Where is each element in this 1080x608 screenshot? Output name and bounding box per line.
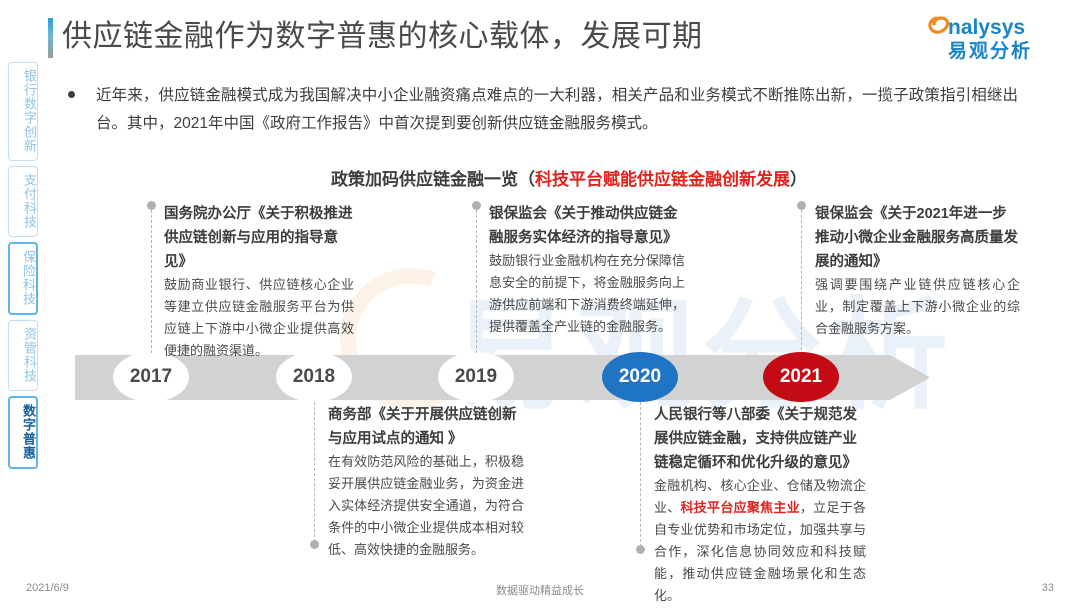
timeline-node-label: 2017 <box>130 366 172 388</box>
chart-title-highlight: 科技平台赋能供应链金融创新发展 <box>535 170 790 189</box>
sidebar-item-asset-management-tech[interactable]: 资管科技 <box>8 320 38 391</box>
connector-dot-2017 <box>147 201 156 210</box>
page-title: 供应链金融作为数字普惠的核心载体，发展可期 <box>62 16 703 58</box>
timeline-item-2021: 银保监会《关于2021年进一步推动小微企业金融服务高质量发展的通知》 强调要围绕… <box>815 202 1020 340</box>
timeline-node-label: 2018 <box>293 366 335 388</box>
connector-dot-2020 <box>636 545 645 554</box>
svg-text:nalysys: nalysys <box>948 16 1025 39</box>
timeline-item-body: 强调要围绕产业链供应链核心企业，制定覆盖上下游小微企业的综合金融服务方案。 <box>815 274 1020 340</box>
connector-dot-2019 <box>472 201 481 210</box>
chart-title-main: 政策加码供应链金融一览（ <box>331 170 535 189</box>
timeline-item-title: 商务部《关于开展供应链创新与应用试点的通知 》 <box>328 403 524 451</box>
title-accent-bar <box>48 18 53 58</box>
timeline-item-2019: 银保监会《关于推动供应链金融服务实体经济的指导意见》 鼓励银行业金融机构在充分保… <box>489 202 685 338</box>
timeline-node-2021[interactable]: 2021 <box>763 352 839 402</box>
connector-2021 <box>801 205 803 350</box>
sidebar-item-label: 支付科技 <box>22 173 37 229</box>
sidebar-item-label: 银行数字创新 <box>22 69 37 153</box>
sidebar-item-bank-digital-innovation[interactable]: 银行数字创新 <box>8 62 38 161</box>
timeline-item-body: 在有效防范风险的基础上，积极稳妥开展供应链金融业务，为资金进入实体经济提供安全通… <box>328 451 524 561</box>
sidebar-item-digital-inclusion[interactable]: 数字普惠 <box>8 396 38 469</box>
connector-2018 <box>314 402 316 542</box>
timeline-item-2018: 商务部《关于开展供应链创新与应用试点的通知 》 在有效防范风险的基础上，积极稳妥… <box>328 403 524 561</box>
logo-wordmark: nalysys <box>926 12 1054 40</box>
logo-chinese-name: 易观分析 <box>926 41 1054 63</box>
sidebar-tabs: 银行数字创新 支付科技 保险科技 资管科技 数字普惠 <box>8 62 42 474</box>
timeline-item-title: 银保监会《关于2021年进一步推动小微企业金融服务高质量发展的通知》 <box>815 202 1020 274</box>
brand-logo: nalysys 易观分析 <box>926 12 1054 64</box>
timeline-node-label: 2019 <box>455 366 497 388</box>
timeline-item-title: 人民银行等八部委《关于规范发展供应链金融，支持供应链产业链稳定循环和优化升级的意… <box>654 403 866 475</box>
body-highlight: 科技平台应聚焦主业 <box>681 500 800 515</box>
connector-2020 <box>640 402 642 547</box>
sidebar-item-label: 保险科技 <box>21 250 36 306</box>
connector-dot-2018 <box>310 540 319 549</box>
timeline-node-2019[interactable]: 2019 <box>438 352 514 402</box>
chart-title-tail: ） <box>790 170 807 189</box>
timeline-item-title: 银保监会《关于推动供应链金融服务实体经济的指导意见》 <box>489 202 685 250</box>
timeline-item-2020: 人民银行等八部委《关于规范发展供应链金融，支持供应链产业链稳定循环和优化升级的意… <box>654 403 866 607</box>
chart-title: 政策加码供应链金融一览（科技平台赋能供应链金融创新发展） <box>331 165 807 190</box>
connector-2017 <box>151 205 153 353</box>
sidebar-item-payment-tech[interactable]: 支付科技 <box>8 166 38 237</box>
timeline-item-title: 国务院办公厅《关于积极推进供应链创新与应用的指导意见》 <box>164 202 354 274</box>
timeline-item-body: 鼓励商业银行、供应链核心企业等建立供应链金融服务平台为供应链上下游中小微企业提供… <box>164 274 354 362</box>
sidebar-item-label: 数字普惠 <box>21 404 36 460</box>
footer: 2021/6/9 数据驱动精益成长 33 <box>0 582 1080 600</box>
bullet-dot-icon <box>68 91 75 98</box>
analysys-logo-icon: nalysys <box>926 12 1054 40</box>
timeline-item-2017: 国务院办公厅《关于积极推进供应链创新与应用的指导意见》 鼓励商业银行、供应链核心… <box>164 202 354 362</box>
timeline-item-body: 鼓励银行业金融机构在充分保障信息安全的前提下，将金融服务向上游供应前端和下游消费… <box>489 250 685 338</box>
timeline-node-label: 2021 <box>780 366 822 388</box>
intro-bullet: 近年来，供应链金融模式成为我国解决中小企业融资痛点难点的一大利器，相关产品和业务… <box>68 82 1018 138</box>
sidebar-item-label: 资管科技 <box>22 327 37 383</box>
timeline-node-2020[interactable]: 2020 <box>602 352 678 402</box>
footer-page-number: 33 <box>1042 582 1054 594</box>
connector-2019 <box>476 205 478 353</box>
connector-dot-2021 <box>797 201 806 210</box>
footer-slogan: 数据驱动精益成长 <box>0 582 1080 598</box>
intro-bullet-text: 近年来，供应链金融模式成为我国解决中小企业融资痛点难点的一大利器，相关产品和业务… <box>96 82 1018 138</box>
sidebar-item-insurance-tech[interactable]: 保险科技 <box>8 242 38 315</box>
timeline-node-label: 2020 <box>619 366 661 388</box>
